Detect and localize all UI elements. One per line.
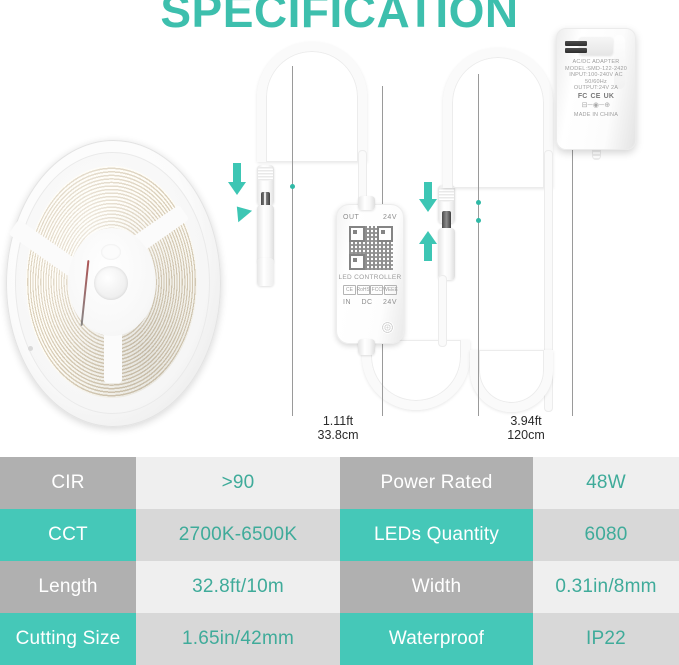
certification-marks: CE RoHS FCC WEEE (343, 285, 397, 295)
dc-female-connector-strip (257, 205, 274, 263)
controller-bottom-port (358, 339, 375, 355)
polarity-icon: ⊟─◉─⊕ (565, 103, 627, 110)
spec-label-leds-quantity: LEDs Quantity (340, 509, 533, 561)
adapter-cable-loop (443, 48, 553, 188)
insert-arrow-down-2 (419, 199, 437, 212)
dim-endpoint-dot (476, 218, 481, 223)
adapter-cert-marks: FC CE UK (565, 94, 627, 101)
dimension-label-controller-cable: 1.11ft 33.8cm (300, 414, 376, 442)
insert-arrow-up (230, 201, 252, 223)
spec-value-cct: 2700K-6500K (136, 509, 340, 561)
ac-plug-prongs (565, 37, 615, 55)
controller-out-voltage: 24V (383, 214, 397, 221)
spec-value-leds-quantity: 6080 (533, 509, 679, 561)
cert-fcc-icon: FCC (370, 285, 383, 295)
ce-mark-icon: CE (591, 94, 601, 101)
dimension-cm: 33.8cm (300, 428, 376, 442)
fcc-mark-icon: FC (578, 94, 588, 101)
spec-value-cir: >90 (136, 457, 340, 509)
controller-in-voltage: 24V (383, 299, 397, 306)
dimension-label-adapter-cable: 3.94ft 120cm (488, 414, 564, 442)
adapter-line-1: AC/DC ADAPTER (565, 59, 627, 66)
dimension-cm: 120cm (488, 428, 564, 442)
adapter-origin: MADE IN CHINA (565, 112, 627, 119)
dc-female-connector-adapter (438, 228, 455, 280)
dim-guide-line-1 (292, 66, 293, 416)
prong-blade (565, 41, 587, 46)
controller-out-label: OUT (343, 214, 359, 221)
adapter-line-5: OUTPUT:24V 2A (565, 85, 627, 92)
dimension-feet: 3.94ft (488, 414, 564, 428)
qr-eye (349, 254, 365, 270)
insert-arrow-down-2-stem (424, 182, 432, 200)
connector-ridges (439, 188, 454, 202)
ukca-mark-icon: UK (604, 94, 615, 101)
spec-label-cutting-size: Cutting Size (0, 613, 136, 665)
spec-label-waterproof: Waterproof (340, 613, 533, 665)
spec-value-length: 32.8ft/10m (136, 561, 340, 613)
strip-tail-sleeve (257, 258, 274, 286)
dimension-feet: 1.11ft (300, 414, 376, 428)
reel-hub-nub (101, 244, 121, 260)
insert-arrow-up-2-stem (424, 243, 432, 261)
controller-device-name: LED CONTROLLER (337, 274, 403, 281)
spec-label-length: Length (0, 561, 136, 613)
controller-dc-label: DC (361, 299, 372, 306)
reel-hub (94, 266, 128, 300)
spec-value-width: 0.31in/8mm (533, 561, 679, 613)
dim-endpoint-dot (290, 184, 295, 189)
qr-code (349, 226, 393, 270)
spec-label-cct: CCT (0, 509, 136, 561)
qr-eye (349, 226, 365, 242)
controller-top-port (358, 196, 375, 210)
reel-screw (28, 346, 33, 351)
spec-label-cir: CIR (0, 457, 136, 509)
specification-table: CIR >90 Power Rated 48W CCT 2700K-6500K … (0, 457, 679, 665)
strip-cable-loop (257, 42, 367, 162)
controller-output-cable-loop (362, 340, 470, 410)
prong-blade (565, 48, 587, 53)
spec-value-cutting-size: 1.65in/42mm (136, 613, 340, 665)
insert-arrow-down-stem (233, 163, 241, 183)
adapter-line-3: INPUT:100-240V AC (565, 72, 627, 79)
adapter-cable-bottom-bend (470, 350, 553, 412)
connector-ridges (258, 167, 273, 181)
dim-endpoint-dot (476, 200, 481, 205)
led-controller: OUT 24V LED CONTROLLER CE RoHS FCC WEEE … (336, 204, 404, 344)
product-illustration: 1.11ft 33.8cm 3.94ft 120cm OUT 24V LED C… (0, 0, 679, 457)
spec-label-width: Width (340, 561, 533, 613)
spec-value-waterproof: IP22 (533, 613, 679, 665)
cert-ce-icon: CE (343, 285, 356, 295)
cert-weee-icon: WEEE (384, 285, 397, 295)
controller-cable-up (438, 275, 447, 347)
spec-label-power-rated: Power Rated (340, 457, 533, 509)
adapter-label: AC/DC ADAPTER MODEL:SMD-122-2420 INPUT:1… (565, 59, 627, 118)
dim-guide-line-3 (478, 74, 479, 416)
led-strip-reel (6, 140, 219, 425)
controller-in-label: IN (343, 299, 351, 306)
ir-receiver-icon (381, 321, 394, 334)
insert-arrow-down (228, 182, 246, 195)
spec-value-power-rated: 48W (533, 457, 679, 509)
qr-eye (377, 226, 393, 242)
cert-rohs-icon: RoHS (357, 285, 370, 295)
